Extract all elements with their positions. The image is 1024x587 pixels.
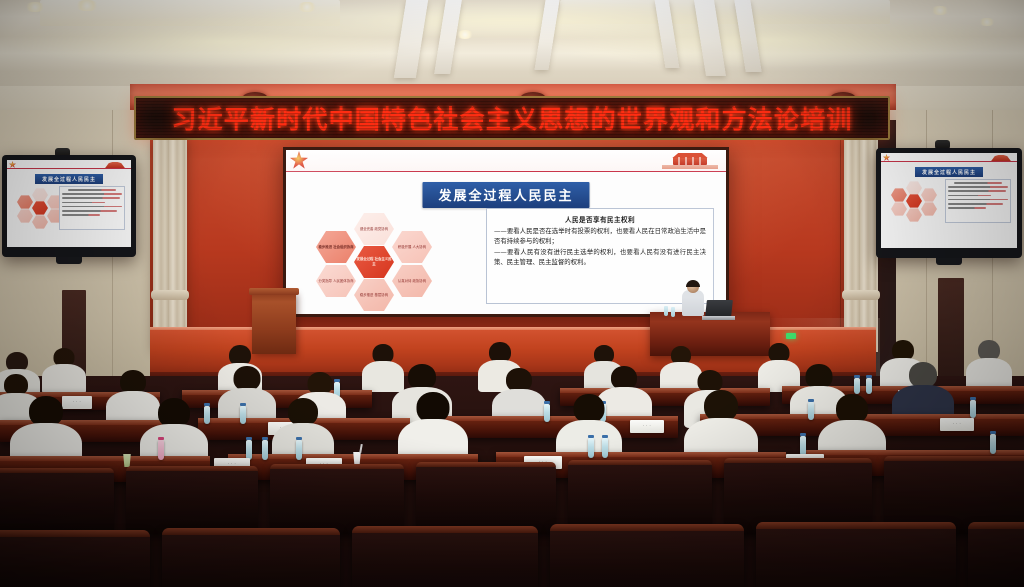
audience-seat (352, 526, 538, 587)
monitor-hexagon-diagram (889, 181, 943, 221)
water-bottle (866, 378, 872, 394)
slide-title: 发展全过程人民民主 (422, 182, 589, 208)
water-bottle (240, 406, 246, 424)
ceiling-downlight (74, 0, 100, 11)
led-banner: 习近平新时代中国特色社会主义思想的世界观和方法论培训 (134, 96, 890, 140)
ceiling-downlight (296, 2, 318, 12)
curtain-tieback (151, 290, 189, 300)
laptop-screen (705, 300, 733, 317)
presenter-body (682, 290, 704, 316)
ceiling-downlight (930, 6, 950, 15)
conference-hall-scene: 习近平新时代中国特色社会主义思想的世界观和方法论培训 发 (0, 0, 1024, 587)
ceiling-beam (394, 0, 428, 78)
monitor-textbox (59, 186, 125, 230)
side-monitor-left: 发展全过程人民民主 (2, 155, 136, 257)
audience-seat (126, 466, 258, 534)
monitor-slide-title: 发展全过程人民民主 (35, 174, 103, 184)
water-bottle (800, 436, 806, 456)
audience-seat (416, 462, 556, 534)
textbox-heading: 人民是否享有民主权利 (494, 214, 706, 224)
audience-seat (968, 522, 1024, 587)
monitor-slide-title: 发展全过程人民民主 (915, 167, 983, 177)
hex-cell: 积极开展 人大协商 (392, 230, 432, 264)
party-emblem-icon (290, 151, 308, 169)
ceiling-beam (534, 0, 559, 70)
tiananmen-graphic-icon (659, 153, 721, 170)
hex-cell: 稳步推进 基层协商 (354, 278, 394, 312)
audience-seat (162, 528, 340, 587)
water-bottle (588, 438, 594, 458)
placard-text: · · · (940, 418, 974, 431)
ceiling-downlight (24, 2, 46, 12)
water-bottle (664, 306, 668, 316)
water-bottle (602, 438, 608, 458)
presenter-hair (686, 280, 700, 287)
slide-textbox: 人民是否享有民主权利 ——要看人民是否在选举时有投票的权利，也要看人民在日常政治… (486, 208, 714, 304)
hex-cell-center: 发展全过程 社会主义民主 (354, 245, 394, 279)
water-bottle (296, 440, 302, 460)
hex-cell: 健全完善 政党协商 (354, 212, 394, 246)
placard-text: · · · (630, 420, 664, 433)
audience-member (966, 340, 1012, 392)
water-bottle (671, 307, 675, 317)
hex-cell: 稳步推进 社会组织协商 (316, 230, 356, 264)
exit-sign (786, 333, 796, 339)
audience-member (42, 348, 86, 394)
audience-seat (568, 460, 712, 534)
water-bottle (262, 440, 268, 460)
monitor-textbox (945, 179, 1011, 223)
ceiling (0, 0, 1024, 92)
water-bottle (990, 434, 996, 454)
water-bottle (854, 378, 860, 394)
water-bottle (808, 402, 814, 420)
water-bottle (158, 440, 164, 460)
slide-header-band (286, 150, 726, 172)
curtain-tieback (842, 290, 880, 300)
audience-seat (0, 468, 114, 534)
water-bottle (544, 404, 550, 422)
audience-seat (0, 530, 150, 587)
hex-cell: 认真对待 政协协商 (392, 264, 432, 298)
stage-curtain-left (153, 140, 187, 352)
textbox-paragraph: ——要看人民有没有进行民主选举的权利，也要看人民有没有进行民主决策、民主管理、民… (494, 247, 706, 268)
side-monitor-right: 发展全过程人民民主 (876, 148, 1022, 258)
water-bottle (970, 400, 976, 418)
main-projection-screen: 发展全过程人民民主 健全完善 政党协商 积极开展 人大协商 认真对待 政协协商 … (283, 147, 729, 317)
audience-seat (756, 522, 956, 587)
ceiling-downlight (456, 30, 474, 39)
audience-seat (270, 464, 404, 534)
hexagon-diagram: 健全完善 政党协商 积极开展 人大协商 认真对待 政协协商 稳步推进 基层协商 … (308, 212, 458, 304)
hex-cell: 分类指导 人民团体协商 (316, 264, 356, 298)
presentation-slide: 发展全过程人民民主 健全完善 政党协商 积极开展 人大协商 认真对待 政协协商 … (286, 150, 726, 314)
stage-curtain-right (844, 140, 878, 352)
laptop-base (702, 316, 735, 320)
name-placard: · · · (940, 418, 974, 431)
name-placard: · · · (630, 420, 664, 433)
water-bottle (246, 440, 252, 460)
ceiling-downlight (978, 18, 996, 26)
banner-title-text: 习近平新时代中国特色社会主义思想的世界观和方法论培训 (171, 100, 852, 136)
audience-seat (550, 524, 744, 587)
textbox-paragraph: ——要看人民是否在选举时有投票的权利，也要看人民在日常政治生活中是否有持续参与的… (494, 226, 706, 247)
